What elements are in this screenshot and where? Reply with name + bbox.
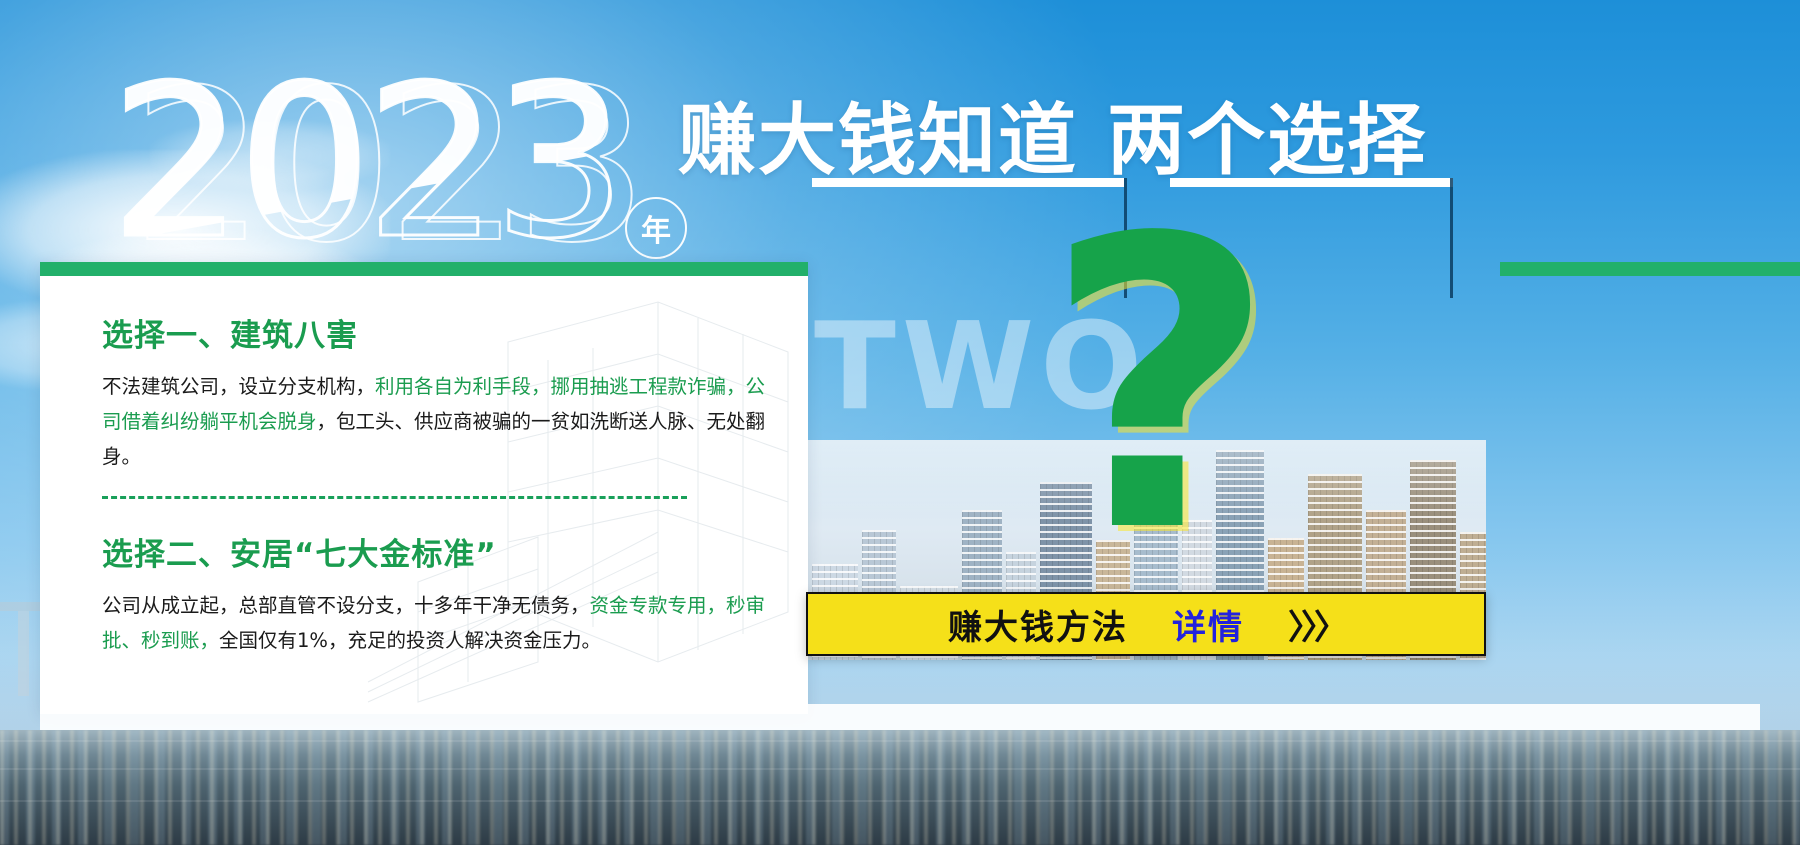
section-one-text-a: 不法建筑公司，设立分支机构，	[102, 375, 375, 398]
chevron-right-icon: 〉〉〉	[1288, 600, 1344, 649]
green-accent-edge	[1500, 262, 1800, 276]
water-reflection	[0, 730, 1800, 845]
headline-rule-right	[1170, 178, 1453, 187]
section-two: 选择二、安居“七大金标准” 公司从成立起，总部直管不设分支，十多年干净无债务，资…	[102, 529, 782, 658]
section-one: 选择一、建筑八害 不法建筑公司，设立分支机构，利用各自为利手段，挪用抽逃工程款诈…	[102, 310, 782, 474]
white-base-plate	[40, 704, 1760, 730]
section-two-body: 公司从成立起，总部直管不设分支，十多年干净无债务，资金专款专用，秒审批、秒到账，…	[102, 588, 782, 658]
card-content: 选择一、建筑八害 不法建筑公司，设立分支机构，利用各自为利手段，挪用抽逃工程款诈…	[102, 310, 782, 658]
content-card: 选择一、建筑八害 不法建筑公司，设立分支机构，利用各自为利手段，挪用抽逃工程款诈…	[40, 262, 808, 714]
section-divider	[102, 496, 687, 499]
section-one-title: 选择一、建筑八害	[102, 310, 782, 355]
question-mark-icon: ?	[1044, 208, 1276, 568]
section-two-title: 选择二、安居“七大金标准”	[102, 529, 782, 574]
section-two-text-a: 公司从成立起，总部直管不设分支，十多年干净无债务，	[102, 594, 590, 617]
card-top-accent-bar	[40, 262, 808, 276]
section-two-text-c: 全国仅有1%，充足的投资人解决资金压力。	[219, 629, 601, 652]
cta-main-label: 赚大钱方法	[948, 600, 1128, 649]
cta-detail-link[interactable]: 详情	[1172, 600, 1244, 649]
headline-rule-left	[812, 178, 1124, 187]
page-title: 赚大钱知道 两个选择	[678, 78, 1427, 190]
poster-stage: 2023 2023 2023 年 赚大钱知道 两个选择 TWO CHOICES	[0, 0, 1800, 845]
section-one-body: 不法建筑公司，设立分支机构，利用各自为利手段，挪用抽逃工程款诈骗，公司借着纠纷躺…	[102, 369, 782, 474]
year-unit-badge: 年	[625, 197, 687, 259]
hero-right-panel: TWO CHOICES ?	[806, 190, 1486, 660]
cta-banner[interactable]: 赚大钱方法 详情 〉〉〉	[806, 592, 1486, 656]
